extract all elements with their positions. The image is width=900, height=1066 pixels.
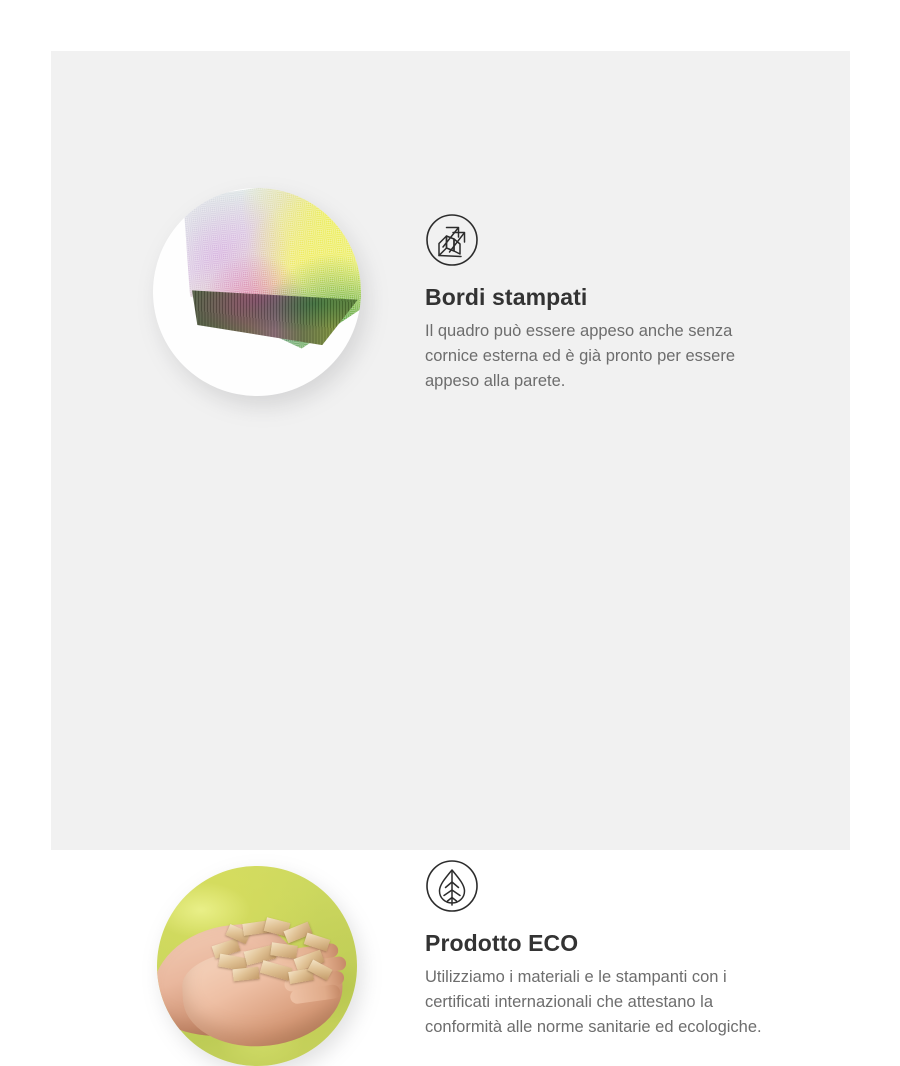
- wood-chips-pile: [209, 920, 337, 986]
- canvas-corner-illustration: [179, 188, 361, 391]
- feature-image-printed-edges: [153, 188, 361, 396]
- product-feature-infographic: Bordi stampati Il quadro può essere appe…: [0, 0, 900, 900]
- feature-title-printed-edges: Bordi stampati: [425, 285, 805, 310]
- feature-block-eco-product: Prodotto ECO Utilizziamo i materiali e l…: [51, 434, 850, 850]
- feature-text-eco-product: Prodotto ECO Utilizziamo i materiali e l…: [425, 859, 805, 1041]
- feature-block-printed-edges: Bordi stampati Il quadro può essere appe…: [51, 51, 850, 451]
- content-panel: Bordi stampati Il quadro può essere appe…: [51, 51, 850, 850]
- feature-description-printed-edges: Il quadro può essere appeso anche senza …: [425, 319, 789, 394]
- leaf-icon: [425, 859, 479, 913]
- feature-image-eco-product: [157, 866, 357, 1066]
- printed-edges-icon: [425, 213, 479, 267]
- feature-text-printed-edges: Bordi stampati Il quadro può essere appe…: [425, 213, 805, 395]
- feature-title-eco-product: Prodotto ECO: [425, 931, 805, 956]
- feature-description-eco-product: Utilizziamo i materiali e le stampanti c…: [425, 965, 789, 1040]
